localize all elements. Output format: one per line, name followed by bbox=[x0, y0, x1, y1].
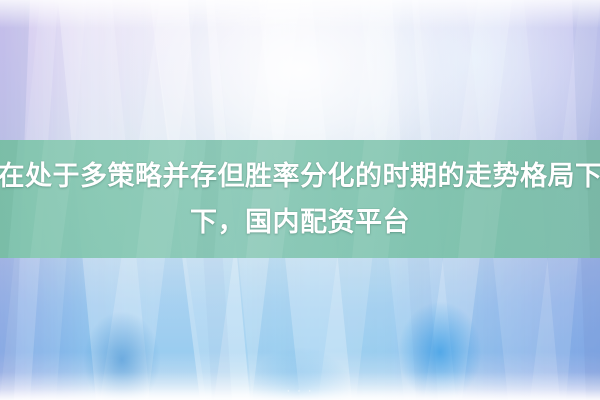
bottom-watermark: · · · bbox=[0, 385, 600, 397]
promo-banner: 在处于多策略并存但胜率分化的时期的走势格局下 下，国内配资平台 · · · bbox=[0, 0, 600, 400]
headline-line-1: 在处于多策略并存但胜率分化的时期的走势格局下 bbox=[0, 153, 600, 199]
headline-line-2: 下，国内配资平台 bbox=[190, 199, 410, 245]
headline-text-container: 在处于多策略并存但胜率分化的时期的走势格局下 下，国内配资平台 bbox=[0, 140, 600, 258]
